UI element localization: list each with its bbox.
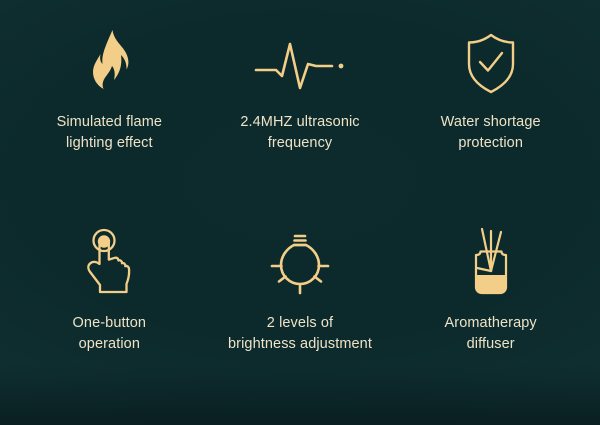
feature-item-brightness-adjustment: 2 levels of brightness adjustment xyxy=(205,215,396,412)
feature-label: 2.4MHZ ultrasonic frequency xyxy=(240,112,359,154)
feature-label: Aromatherapy diffuser xyxy=(445,313,537,355)
shield-check-icon xyxy=(463,18,519,110)
feature-label: Water shortage protection xyxy=(441,112,541,154)
feature-item-water-shortage-protection: Water shortage protection xyxy=(395,18,586,215)
feature-item-one-button-operation: One-button operation xyxy=(14,215,205,412)
waveform-icon xyxy=(252,18,348,110)
light-bulb-icon xyxy=(262,215,338,311)
feature-item-ultrasonic-frequency: 2.4MHZ ultrasonic frequency xyxy=(205,18,396,215)
feature-label: 2 levels of brightness adjustment xyxy=(228,313,372,355)
feature-label: Simulated flame lighting effect xyxy=(57,112,162,154)
feature-grid: Simulated flame lighting effect 2.4MHZ u… xyxy=(0,0,600,425)
feature-label: One-button operation xyxy=(73,313,147,355)
flame-icon xyxy=(79,18,139,110)
reed-diffuser-icon xyxy=(460,215,522,311)
feature-item-aromatherapy-diffuser: Aromatherapy diffuser xyxy=(395,215,586,412)
tap-hand-icon xyxy=(80,215,138,311)
feature-item-simulated-flame: Simulated flame lighting effect xyxy=(14,18,205,215)
